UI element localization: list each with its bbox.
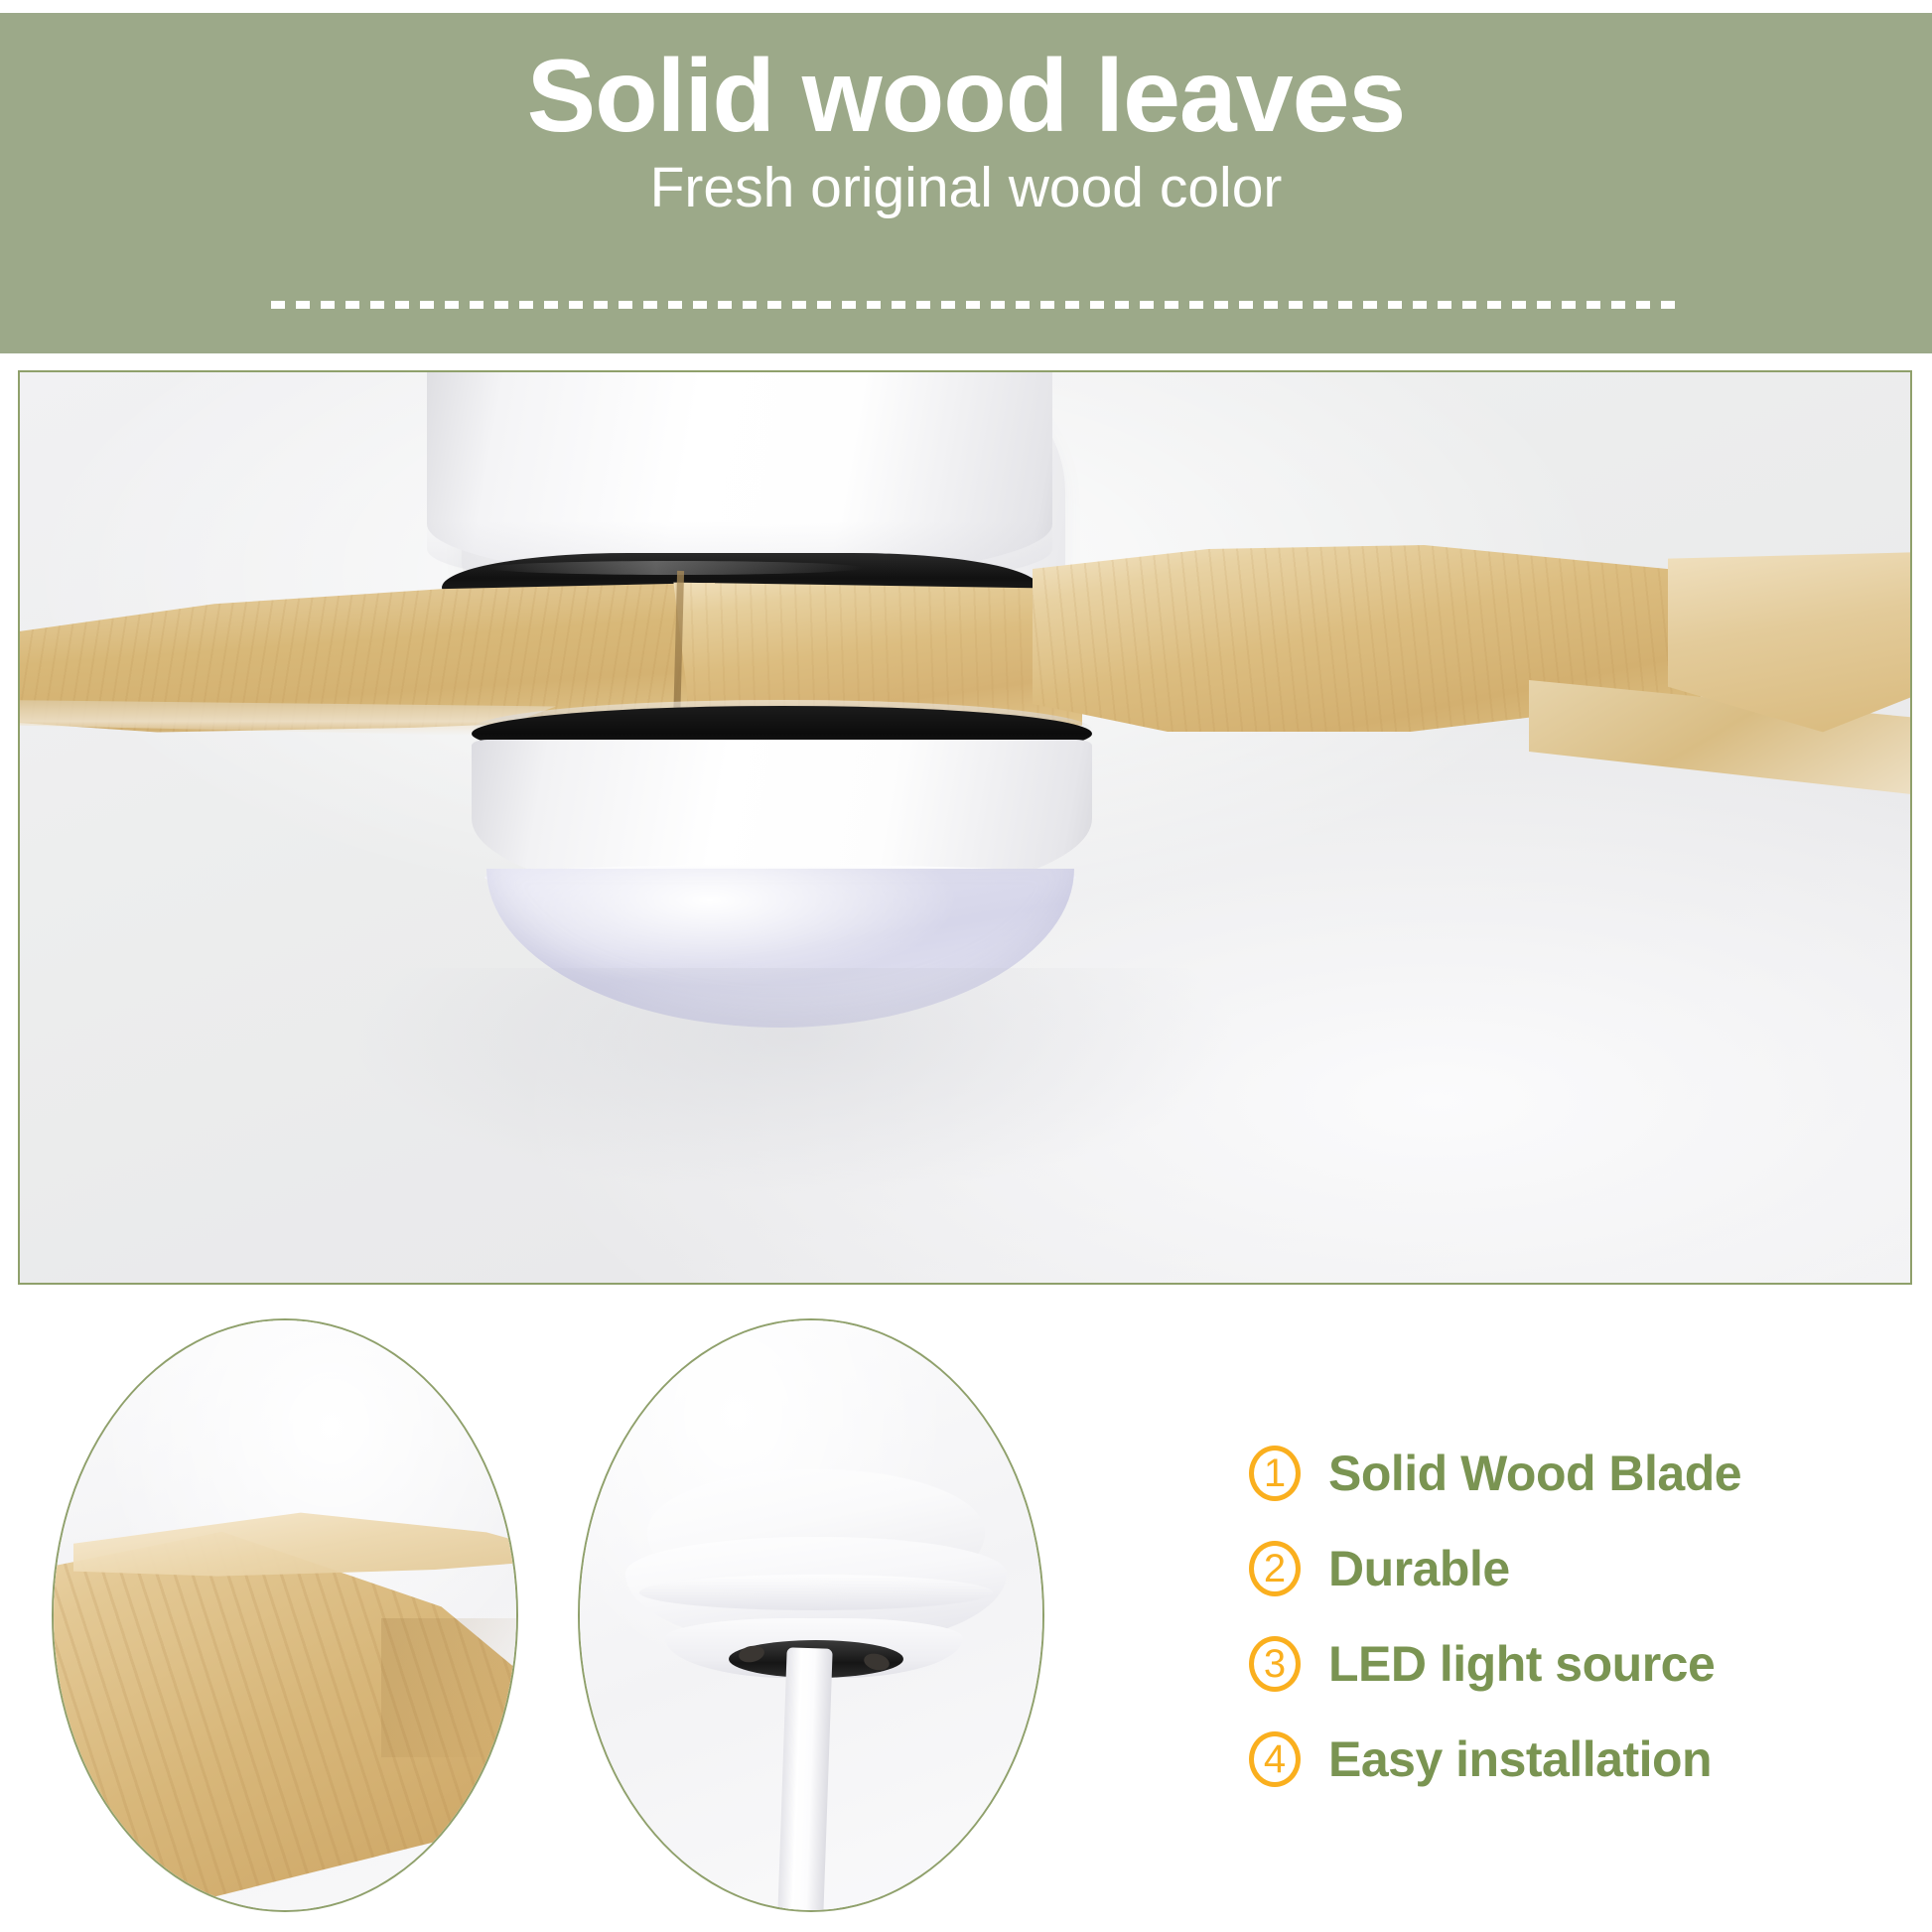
feature-label-3: LED light source [1328, 1635, 1715, 1693]
feature-number-badge-2: 2 [1249, 1541, 1301, 1596]
hero-drop-shadow [347, 968, 1241, 1196]
feature-label-2: Durable [1328, 1540, 1510, 1597]
hero-photo-canvas [20, 372, 1910, 1283]
dashed-divider [271, 301, 1675, 309]
fan-black-ring-gloss [486, 561, 864, 575]
feature-item-2: 2 Durable [1249, 1521, 1932, 1616]
feature-number-badge-3: 3 [1249, 1636, 1301, 1692]
feature-number-badge-1: 1 [1249, 1446, 1301, 1501]
feature-label-4: Easy installation [1328, 1730, 1712, 1788]
page-title: Solid wood leaves [0, 45, 1932, 148]
wood-blade-tip-shading [381, 1618, 518, 1757]
header-band: Solid wood leaves Fresh original wood co… [0, 13, 1932, 353]
feature-label-1: Solid Wood Blade [1328, 1445, 1741, 1502]
feature-list: 1 Solid Wood Blade 2 Durable 3 LED light… [1249, 1426, 1932, 1807]
thumbnail-ceiling-mount [578, 1318, 1044, 1912]
feature-number-badge-4: 4 [1249, 1731, 1301, 1787]
hero-product-image [18, 370, 1912, 1285]
feature-item-3: 3 LED light source [1249, 1616, 1932, 1712]
feature-item-4: 4 Easy installation [1249, 1712, 1932, 1807]
mount-canopy-ring [639, 1575, 993, 1610]
page-subtitle: Fresh original wood color [0, 160, 1932, 216]
mount-downrod [777, 1647, 832, 1912]
feature-item-1: 1 Solid Wood Blade [1249, 1426, 1932, 1521]
thumbnail-solid-wood-blade [52, 1318, 518, 1912]
